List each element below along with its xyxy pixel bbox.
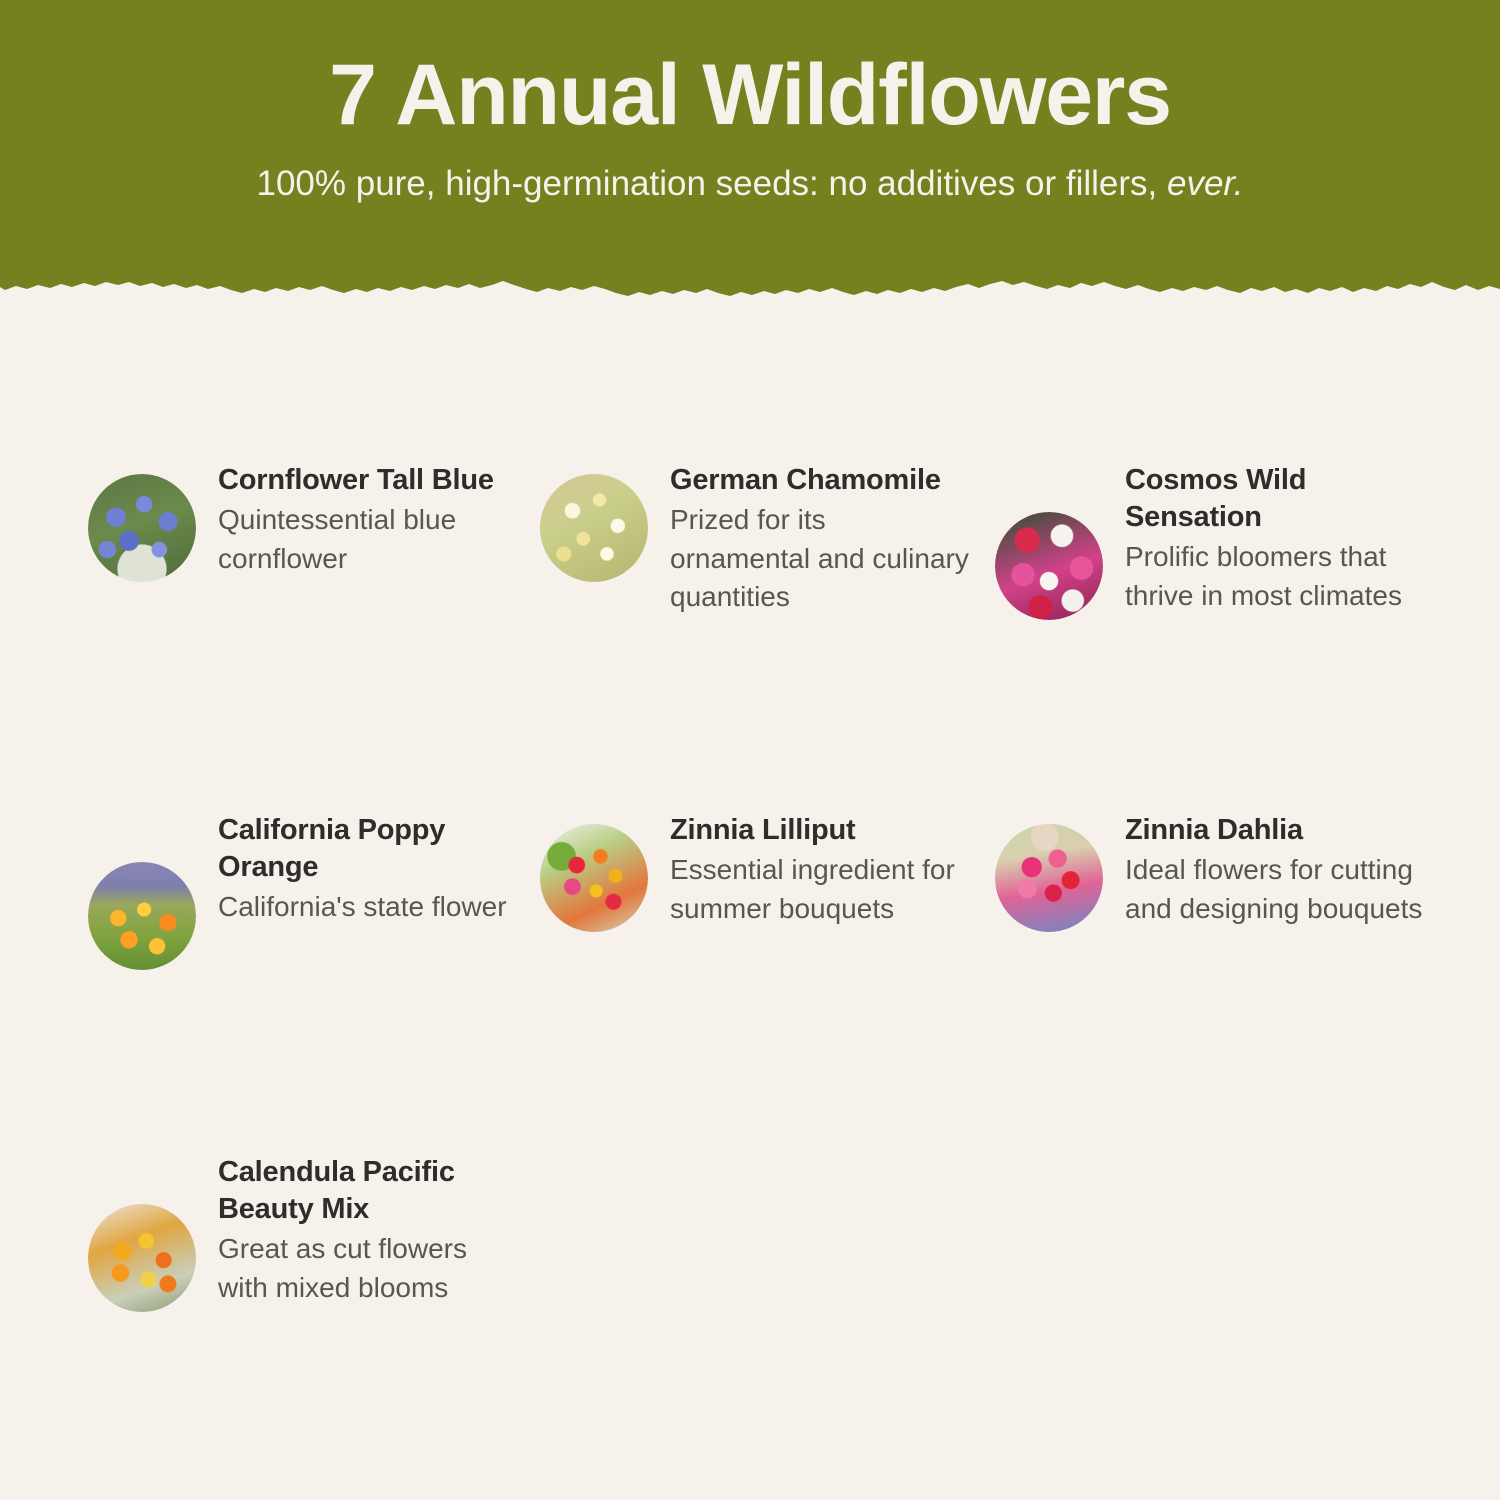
list-item-text: California Poppy Orange California's sta… [218,810,518,927]
flower-description: California's state flower [218,888,518,927]
list-item[interactable]: Cornflower Tall Blue Quintessential blue… [88,460,518,582]
header-banner: 7 Annual Wildflowers 100% pure, high-ger… [0,0,1500,312]
list-item-text: Zinnia Dahlia Ideal flowers for cutting … [1125,810,1435,928]
chamomile-thumbnail [540,474,648,582]
cornflower-thumbnail [88,474,196,582]
flower-description: Quintessential blue cornflower [218,501,518,578]
list-item-text: Calendula Pacific Beauty Mix Great as cu… [218,1152,518,1307]
list-item[interactable]: Zinnia Dahlia Ideal flowers for cutting … [995,810,1435,932]
flower-name: Cosmos Wild Sensation [1125,462,1435,536]
zinnia-lilliput-image [540,824,648,932]
flower-name: Calendula Pacific Beauty Mix [218,1154,518,1228]
flower-name: California Poppy Orange [218,812,518,886]
list-item-text: Cornflower Tall Blue Quintessential blue… [218,460,518,578]
zinnia-dahlia-image [995,824,1103,932]
chamomile-image [540,474,648,582]
flower-name: German Chamomile [670,462,970,499]
list-item[interactable]: Cosmos Wild Sensation Prolific bloomers … [995,460,1435,620]
flower-name: Zinnia Lilliput [670,812,970,849]
list-item-text: German Chamomile Prized for its ornament… [670,460,970,617]
cornflower-image [88,474,196,582]
page-title: 7 Annual Wildflowers [0,52,1500,138]
flower-description: Ideal flowers for cutting and designing … [1125,851,1435,928]
page-subtitle: 100% pure, high-germination seeds: no ad… [0,163,1500,205]
california-poppy-image [88,862,196,970]
flower-description: Essential ingredient for summer bouquets [670,851,970,928]
flower-description: Prolific bloomers that thrive in most cl… [1125,538,1435,615]
list-item-text: Cosmos Wild Sensation Prolific bloomers … [1125,460,1435,615]
zinnia-lilliput-thumbnail [540,824,648,932]
cosmos-thumbnail [995,512,1103,620]
flower-name: Cornflower Tall Blue [218,462,518,499]
flower-list: Cornflower Tall Blue Quintessential blue… [0,312,1500,1500]
list-item[interactable]: Calendula Pacific Beauty Mix Great as cu… [88,1152,518,1312]
subtitle-main-text: 100% pure, high-germination seeds: no ad… [256,164,1167,203]
list-item[interactable]: Zinnia Lilliput Essential ingredient for… [540,810,970,932]
flower-description: Great as cut flowers with mixed blooms [218,1230,518,1307]
list-item[interactable]: California Poppy Orange California's sta… [88,810,518,970]
list-item[interactable]: German Chamomile Prized for its ornament… [540,460,970,617]
flower-name: Zinnia Dahlia [1125,812,1435,849]
subtitle-emphasis-text: ever. [1167,164,1244,203]
list-item-text: Zinnia Lilliput Essential ingredient for… [670,810,970,928]
zinnia-dahlia-thumbnail [995,824,1103,932]
california-poppy-thumbnail [88,862,196,970]
flower-description: Prized for its ornamental and culinary q… [670,501,970,617]
calendula-image [88,1204,196,1312]
cosmos-image [995,512,1103,620]
torn-paper-edge-decoration [0,268,1500,312]
calendula-thumbnail [88,1204,196,1312]
